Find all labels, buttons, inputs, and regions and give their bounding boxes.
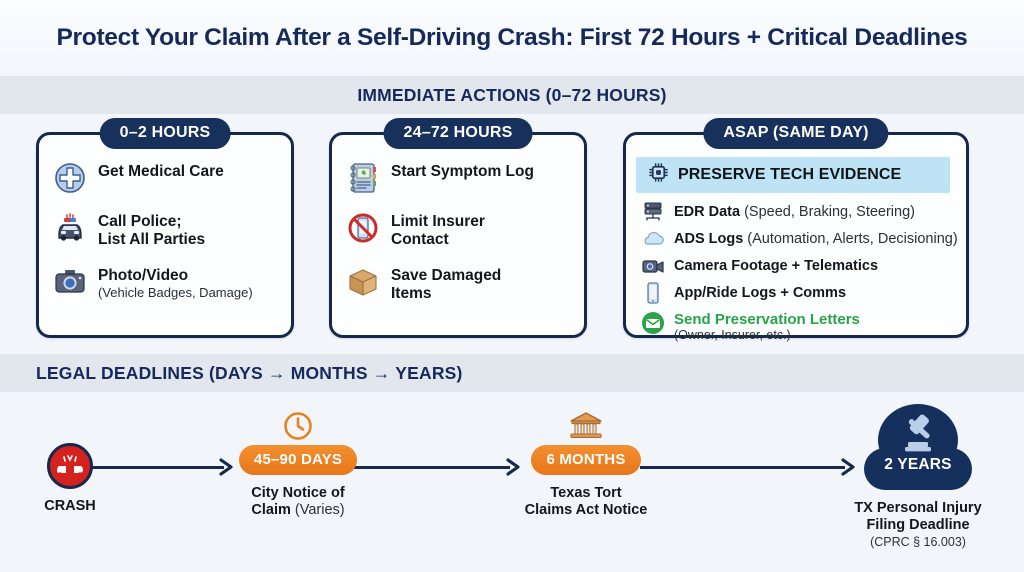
evidence-item-text: App/Ride Logs + Comms bbox=[674, 285, 846, 302]
evidence-item: App/Ride Logs + Comms bbox=[626, 281, 958, 308]
card-badge-0-2-hours: 0–2 HOURS bbox=[100, 118, 231, 149]
action-item: Call Police; List All Parties bbox=[53, 211, 281, 249]
legal-deadlines-timeline bbox=[0, 392, 1024, 572]
evidence-item-text: EDR Data (Speed, Braking, Steering) bbox=[674, 204, 915, 221]
evidence-item-bold: Camera Footage + Telematics bbox=[674, 258, 878, 274]
no-phone-icon bbox=[346, 211, 380, 245]
action-item: Get Medical Care bbox=[53, 161, 281, 195]
action-item-text: Limit Insurer Contact bbox=[391, 211, 485, 249]
preserve-tech-evidence-banner: PRESERVE TECH EVIDENCE bbox=[636, 157, 950, 193]
action-item: Start Symptom Log bbox=[346, 161, 574, 195]
evidence-item-paren: (Speed, Braking, Steering) bbox=[740, 204, 915, 220]
action-item: Limit Insurer Contact bbox=[346, 211, 574, 249]
evidence-item: ADS Logs (Automation, Alerts, Decisionin… bbox=[626, 227, 958, 254]
evidence-item-text: ADS Logs (Automation, Alerts, Decisionin… bbox=[674, 231, 958, 248]
evidence-item: Camera Footage + Telematics bbox=[626, 254, 958, 281]
card-0-2-hours-wrap: 0–2 HOURS Get Medical Care bbox=[36, 132, 294, 338]
action-item-text: Call Police; List All Parties bbox=[98, 211, 205, 249]
card-badge-24-72-hours: 24–72 HOURS bbox=[384, 118, 533, 149]
evidence-item-paren: (Automation, Alerts, Decisioning) bbox=[743, 231, 957, 247]
chip-icon bbox=[648, 162, 669, 188]
cards-row: 0–2 HOURS Get Medical Care bbox=[0, 114, 1024, 354]
action-item-text: Save Damaged Items bbox=[391, 265, 501, 303]
preserve-tech-evidence-label: PRESERVE TECH EVIDENCE bbox=[678, 166, 901, 184]
police-car-icon bbox=[53, 211, 87, 245]
evidence-item: EDR Data (Speed, Braking, Steering) bbox=[626, 200, 958, 227]
action-item-text: Photo/Video (Vehicle Badges, Damage) bbox=[98, 265, 253, 301]
title-bar: Protect Your Claim After a Self-Driving … bbox=[0, 0, 1024, 76]
action-item-title-line2: List All Parties bbox=[98, 231, 205, 249]
notebook-icon bbox=[346, 161, 380, 195]
action-item: Photo/Video (Vehicle Badges, Damage) bbox=[53, 265, 281, 301]
camcorder-icon bbox=[640, 254, 666, 278]
action-item-title-line2: Items bbox=[391, 285, 501, 303]
evidence-item-text: Camera Footage + Telematics bbox=[674, 258, 878, 275]
envelope-icon bbox=[640, 311, 666, 335]
evidence-item-bold: EDR Data bbox=[674, 204, 740, 220]
card-24-72-hours: Start Symptom Log Limit Insurer bbox=[329, 132, 587, 338]
action-item-subtitle: (Vehicle Badges, Damage) bbox=[98, 285, 253, 301]
medical-cross-icon bbox=[53, 161, 87, 195]
smartphone-icon bbox=[640, 281, 666, 305]
action-item-title: Photo/Video bbox=[98, 267, 253, 285]
card-badge-asap: ASAP (SAME DAY) bbox=[703, 118, 888, 149]
action-item: Save Damaged Items bbox=[346, 265, 574, 303]
section-header-immediate-label: IMMEDIATE ACTIONS (0–72 HOURS) bbox=[357, 85, 666, 106]
send-preservation-letters-text: Send Preservation Letters (Owner, Insure… bbox=[674, 311, 860, 343]
action-item-title: Limit Insurer bbox=[391, 213, 485, 231]
action-item-title: Start Symptom Log bbox=[391, 163, 534, 181]
cloud-icon bbox=[640, 227, 666, 251]
evidence-item-bold: ADS Logs bbox=[674, 231, 743, 247]
camera-icon bbox=[53, 265, 87, 299]
action-item-text: Start Symptom Log bbox=[391, 161, 534, 181]
section-header-legal-label: LEGAL DEADLINES (DAYS → MONTHS → YEARS) bbox=[36, 363, 463, 384]
send-letters-subtitle: (Owner, Insurer, etc.) bbox=[674, 328, 860, 343]
action-item-title: Get Medical Care bbox=[98, 163, 224, 181]
card-0-2-hours: Get Medical Care bbox=[36, 132, 294, 338]
section-header-legal: LEGAL DEADLINES (DAYS → MONTHS → YEARS) bbox=[0, 354, 1024, 392]
send-letters-title: Send Preservation Letters bbox=[674, 311, 860, 328]
action-item-text: Get Medical Care bbox=[98, 161, 224, 181]
evidence-item-bold: App/Ride Logs + Comms bbox=[674, 285, 846, 301]
send-preservation-letters-item: Send Preservation Letters (Owner, Insure… bbox=[626, 308, 958, 346]
section-header-immediate: IMMEDIATE ACTIONS (0–72 HOURS) bbox=[0, 76, 1024, 114]
card-asap-same-day: PRESERVE TECH EVIDENCE EDR Data (Speed, … bbox=[623, 132, 969, 338]
box-icon bbox=[346, 265, 380, 299]
card-asap-wrap: ASAP (SAME DAY) PRESERVE TECH EVIDENCE bbox=[623, 132, 969, 338]
action-item-title: Save Damaged bbox=[391, 267, 501, 285]
action-item-title-line2: Contact bbox=[391, 231, 485, 249]
page-title: Protect Your Claim After a Self-Driving … bbox=[57, 24, 968, 52]
server-icon bbox=[640, 200, 666, 224]
action-item-title: Call Police; bbox=[98, 213, 205, 231]
infographic-page: Protect Your Claim After a Self-Driving … bbox=[0, 0, 1024, 572]
card-24-72-hours-wrap: 24–72 HOURS bbox=[329, 132, 587, 338]
